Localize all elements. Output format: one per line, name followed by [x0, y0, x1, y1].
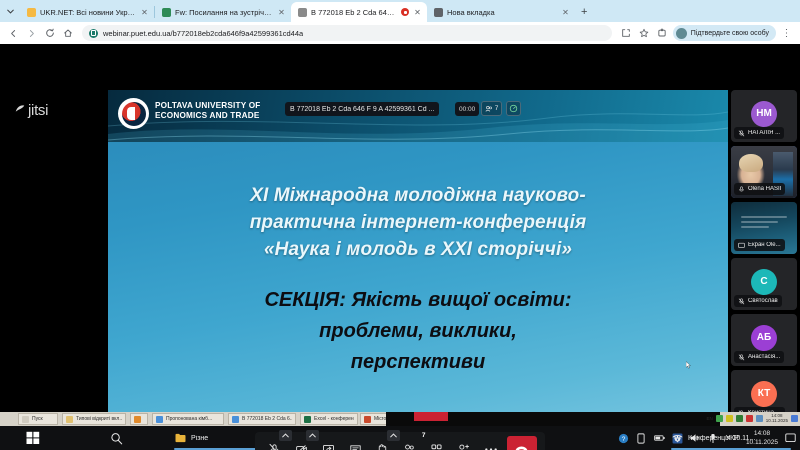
browser-tab-strip: UKR.NET: Всі новини Україн...✕Fw: Посила… [0, 0, 800, 22]
jitsi-toolbar: 7 [255, 432, 545, 450]
university-line-1: POLTAVA UNIVERSITY OF [155, 101, 260, 111]
hangup-button[interactable] [507, 436, 537, 450]
inner-taskbar-item[interactable] [130, 413, 148, 425]
screen-share-button[interactable] [318, 438, 340, 450]
participant-avatar: КТ [751, 381, 777, 407]
slide-section-line-2: проблеми, виклики, [264, 316, 571, 347]
browser-tab-title: Нова вкладка [447, 8, 557, 17]
participant-count-value: 7 [495, 105, 499, 112]
clock-date: 10.11.2025 [746, 438, 778, 447]
browser-tab[interactable]: В 772018 Eb 2 Cda 646 F 9...✕ [291, 2, 427, 22]
clock-time: 14:08 [754, 429, 770, 438]
language-indicator[interactable]: УКР [726, 435, 739, 442]
university-line-2: ECONOMICS AND TRADE [155, 111, 260, 121]
mic-muted-icon [738, 354, 745, 361]
participant-name: Святослав [748, 298, 778, 304]
slide-title-line-2: практична інтернет-конференція [250, 209, 587, 236]
mic-muted-icon [738, 130, 745, 137]
hangup-icon [514, 444, 529, 450]
inner-taskbar-item-label: Пропонована кімб... [166, 416, 212, 422]
mic-muted-icon [738, 298, 745, 305]
inner-tray-icon-1 [716, 415, 723, 422]
taskbar-item-label: Різне [191, 435, 208, 442]
avatar [676, 28, 687, 39]
browser-tab[interactable]: Нова вкладка✕ [427, 2, 575, 22]
clock[interactable]: 14:08 10.11.2025 [746, 429, 778, 447]
browser-tab[interactable]: Fw: Посилання на зустріч "Ак...✕ [155, 2, 291, 22]
browser-tab-title: В 772018 Eb 2 Cda 646 F 9... [311, 8, 397, 17]
bookmark-star-icon[interactable] [637, 26, 652, 41]
inner-taskbar-item-icon [232, 416, 239, 423]
inner-tray-icon-5 [756, 415, 763, 422]
chat-button[interactable] [345, 438, 367, 450]
participants-button[interactable]: 7 [399, 438, 421, 450]
jitsi-mark-icon [14, 103, 26, 118]
browser-tab-title: UKR.NET: Всі новини Україн... [40, 8, 136, 17]
slide-title: XI Міжнародна молодіжна науково- практич… [250, 182, 587, 263]
conference-timer: 00:00 [455, 102, 479, 116]
address-bar[interactable]: webinar.puet.edu.ua/b772018eb2cda646f9a4… [82, 25, 612, 41]
jitsi-wordmark: jitsi [28, 102, 48, 119]
inner-tray-icon-3 [736, 415, 743, 422]
screen-root: UKR.NET: Всі новини Україн...✕Fw: Посила… [0, 0, 800, 450]
volume-icon[interactable] [690, 433, 701, 444]
inner-tray: EN 14:08 10.11.2025 [707, 413, 798, 423]
close-icon[interactable]: ✕ [277, 8, 286, 17]
inner-tray-notification-icon [791, 415, 798, 422]
add-person-icon [457, 443, 470, 450]
inner-taskbar-item-label: Типові відкриті вкл... [76, 416, 122, 422]
extensions-puzzle-icon[interactable] [655, 26, 670, 41]
inner-taskbar-item[interactable]: В 772018 Eb 2 Cda 6... [228, 413, 296, 425]
conference-name: В 772018 Eb 2 Cda 646 F 9 A 42599361 Cd … [290, 106, 434, 113]
close-icon[interactable]: ✕ [140, 8, 149, 17]
inner-taskbar-item-icon [304, 416, 311, 423]
inner-taskbar-item-icon [364, 416, 371, 423]
browser-tab-title: Fw: Посилання на зустріч "Ак... [175, 8, 273, 17]
participant-name: НАТАЛІЯ ... [748, 130, 780, 136]
university-name: POLTAVA UNIVERSITY OF ECONOMICS AND TRAD… [155, 101, 260, 121]
tab-search-icon[interactable] [0, 0, 20, 22]
inner-tray-date: 10.11.2025 [766, 418, 788, 423]
inner-tray-lang: EN [707, 416, 713, 421]
screen-share-icon [322, 443, 335, 450]
address-bar-url[interactable]: webinar.puet.edu.ua/b772018eb2cda646f9a4… [103, 29, 303, 38]
participant-count-badge[interactable]: 7 [481, 101, 502, 116]
participant-avatar: С [751, 269, 777, 295]
ellipsis-icon [484, 447, 498, 450]
participant-thumbnail[interactable]: ССвятослав [731, 258, 797, 310]
help-icon[interactable]: ? [618, 433, 629, 444]
battery-icon[interactable] [654, 433, 665, 444]
participant-avatar: НМ [751, 101, 777, 127]
grid-icon [430, 443, 443, 450]
inner-taskbar-item-icon [134, 416, 141, 423]
inner-window-taskbar: ПускТипові відкриті вкл...Пропонована кі… [0, 412, 800, 426]
inner-taskbar-item-label: В 772018 Eb 2 Cda 6... [242, 416, 292, 422]
participant-name: Екран Ole... [748, 242, 781, 248]
screen-share-icon [738, 242, 745, 249]
participant-thumbnail[interactable]: НМНАТАЛІЯ ... [731, 90, 797, 142]
site-security-icon[interactable] [89, 29, 98, 38]
microphone-button[interactable] [264, 438, 286, 450]
participant-name-badge: Olena HASII [734, 183, 785, 195]
inner-taskbar-item[interactable]: Типові відкриті вкл... [62, 413, 126, 425]
inner-hangup-highlight [414, 412, 448, 421]
back-icon[interactable] [6, 26, 21, 41]
profile-verify-button[interactable]: Підтвердьте свою особу [673, 25, 776, 41]
slide-section-line-1: СЕКЦІЯ: Якість вищої освіти: [264, 285, 571, 316]
inner-taskbar-item[interactable]: Пуск [18, 413, 58, 425]
news-icon [27, 8, 36, 17]
mail-icon [162, 8, 171, 17]
speedometer-icon[interactable] [506, 101, 521, 116]
share-icon[interactable] [619, 26, 634, 41]
camera-muted-icon [295, 443, 308, 450]
new-tab-button[interactable]: + [575, 2, 593, 22]
participant-thumbnail[interactable]: Екран Ole... [731, 202, 797, 254]
slide-content: XI Міжнародна молодіжна науково- практич… [108, 142, 728, 442]
participants-icon [485, 105, 493, 113]
jitsi-conference-stage: jitsi POLTAVA UNIVERSITY OF ECONOMICS AN… [0, 44, 800, 412]
mic-icon [738, 186, 745, 193]
participant-name-badge: Екран Ole... [734, 239, 785, 251]
recording-indicator-icon[interactable] [401, 8, 409, 16]
invite-button[interactable] [453, 438, 475, 450]
participants-filmstrip: НМНАТАЛІЯ ...Olena HASIIЕкран Ole...ССвя… [728, 88, 800, 450]
close-icon[interactable]: ✕ [561, 8, 570, 17]
wifi-icon[interactable] [672, 433, 683, 444]
shared-screen-slide[interactable]: POLTAVA UNIVERSITY OF ECONOMICS AND TRAD… [108, 90, 728, 442]
inner-taskbar-item-icon [156, 416, 163, 423]
inner-taskbar-item[interactable]: Excel - конференція [300, 413, 358, 425]
more-options-button[interactable] [480, 438, 502, 450]
search-icon[interactable] [110, 432, 123, 445]
slide-section: СЕКЦІЯ: Якість вищої освіти: проблеми, в… [264, 285, 571, 378]
system-tray: ? УКР 14:08 10.11.2025 [618, 426, 796, 450]
tile-view-button[interactable] [426, 438, 448, 450]
participant-name: Olena HASII [748, 186, 781, 192]
participant-thumbnail[interactable]: АБАнастасія... [731, 314, 797, 366]
inner-taskbar-item-label: Excel - конференція [314, 416, 354, 422]
inner-taskbar-item-label: Пуск [32, 416, 43, 422]
conference-name-pill[interactable]: В 772018 Eb 2 Cda 646 F 9 A 42599361 Cd … [285, 102, 439, 116]
browser-toolbar: webinar.puet.edu.ua/b772018eb2cda646f9a4… [0, 22, 800, 44]
close-icon[interactable]: ✕ [413, 8, 422, 17]
slide-section-line-3: перспективи [264, 347, 571, 378]
preview-text-lines [741, 216, 787, 231]
notification-icon[interactable] [785, 433, 796, 444]
slide-header-band: POLTAVA UNIVERSITY OF ECONOMICS AND TRAD… [108, 90, 728, 142]
raised-hand-icon [376, 443, 389, 450]
jitsi-logo: jitsi [14, 102, 48, 119]
reload-icon[interactable] [42, 26, 57, 41]
inner-tray-icon-2 [726, 415, 733, 422]
mouse-cursor-icon [686, 361, 691, 369]
chat-icon [349, 443, 362, 450]
inner-taskbar-item[interactable]: Пропонована кімб... [152, 413, 224, 425]
inner-tray-icon-4 [746, 415, 753, 422]
home-icon[interactable] [60, 26, 75, 41]
folder-icon [175, 433, 186, 444]
inner-taskbar-item-icon [66, 416, 73, 423]
globe-icon [434, 8, 443, 17]
svg-text:?: ? [621, 435, 625, 442]
participant-name-badge: Анастасія... [734, 351, 784, 363]
participant-thumbnail[interactable]: Olena HASII [731, 146, 797, 198]
inner-taskbar-item-icon [22, 416, 29, 423]
forward-icon[interactable] [24, 26, 39, 41]
profile-verify-label: Підтвердьте свою особу [691, 30, 769, 37]
usb-icon[interactable] [708, 433, 719, 444]
university-logo-icon [118, 98, 149, 129]
participant-name: Анастасія... [748, 354, 780, 360]
phone-icon[interactable] [636, 433, 647, 444]
browser-menu-icon[interactable]: ⋮ [779, 26, 794, 41]
participant-avatar: АБ [751, 325, 777, 351]
start-icon[interactable] [26, 431, 40, 445]
mic-muted-icon [268, 443, 281, 450]
participant-name-badge: НАТАЛІЯ ... [734, 127, 784, 139]
participants-icon [403, 443, 416, 450]
slide-title-line-3: «Наука і молодь в XXI сторіччі» [250, 236, 587, 263]
slide-title-line-1: XI Міжнародна молодіжна науково- [250, 182, 587, 209]
participant-name-badge: Святослав [734, 295, 782, 307]
raise-hand-button[interactable] [372, 438, 394, 450]
jitsi-icon [298, 8, 307, 17]
camera-button[interactable] [291, 438, 313, 450]
browser-tab[interactable]: UKR.NET: Всі новини Україн...✕ [20, 2, 154, 22]
